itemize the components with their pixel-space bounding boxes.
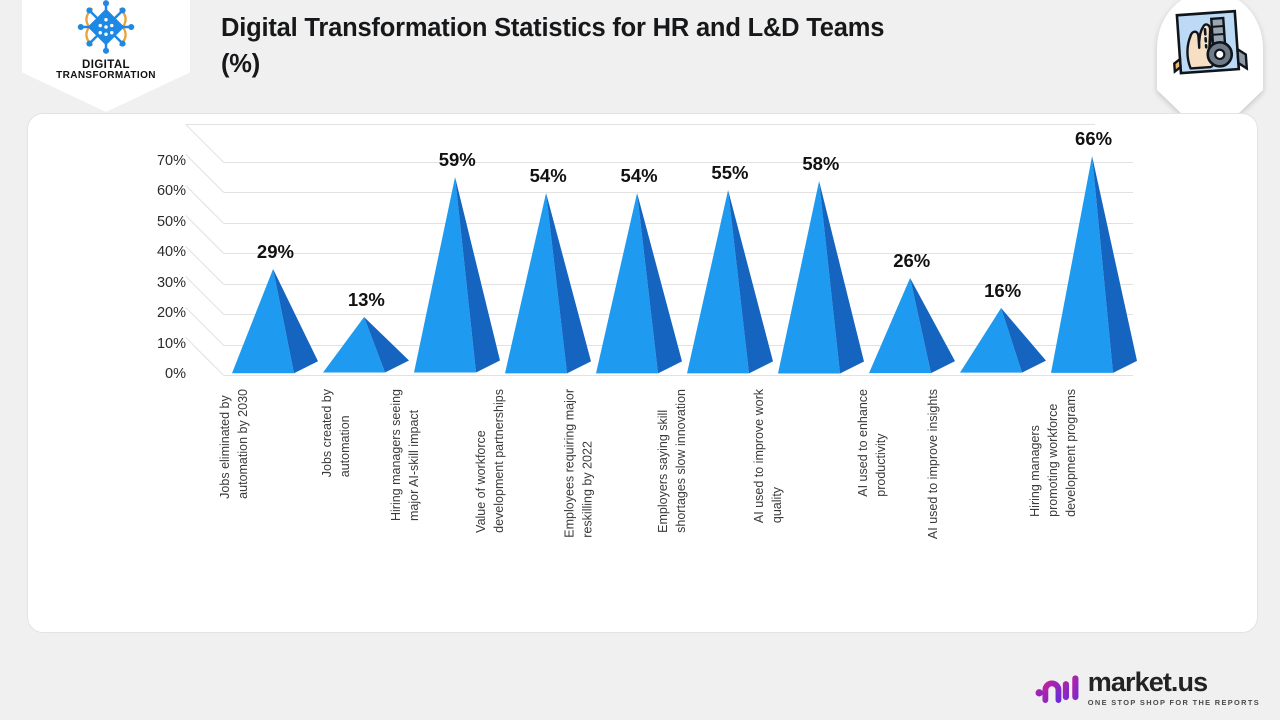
pyramid-bar <box>414 177 500 375</box>
market-us-bars-icon <box>1035 671 1079 703</box>
bar-value-label: 66% <box>1075 128 1112 150</box>
bar-value-label: 13% <box>348 289 385 311</box>
bar-column[interactable]: 26%AI used to enhanceproductivity <box>869 114 955 375</box>
bar-column[interactable]: 54%Value of workforcedevelopment partner… <box>505 114 591 375</box>
x-axis-category-label: AI used to enhanceproductivity <box>854 389 890 497</box>
bar-value-label: 55% <box>711 162 748 184</box>
x-axis-category-label: Employees requiring majorreskilling by 2… <box>561 389 597 538</box>
pyramid-bar <box>687 190 773 375</box>
chart-card: 70%60%50%40%30%20%10%0% 29%Jobs eliminat… <box>27 113 1258 633</box>
x-axis-category-label: Employers saying skillshortages slow inn… <box>654 389 690 533</box>
pyramid-bar <box>869 278 955 375</box>
pyramid-bar <box>596 193 682 375</box>
bar-column[interactable]: 58%AI used to improve workquality <box>778 114 864 375</box>
x-axis-category-label: Jobs created byautomation <box>318 389 354 477</box>
brand-tagline: ONE STOP SHOP FOR THE REPORTS <box>1088 699 1260 706</box>
x-axis-category-label: Hiring managers seeingmajor AI-skill imp… <box>387 389 423 521</box>
bar-value-label: 29% <box>257 241 294 263</box>
pyramid-bar <box>1051 156 1137 375</box>
bar-column[interactable]: 13%Jobs created byautomation <box>323 114 409 375</box>
pyramid-bar <box>323 317 409 375</box>
page-title: Digital Transformation Statistics for HR… <box>221 10 921 82</box>
circuit-chip-diamond-icon <box>67 0 145 58</box>
bar-column[interactable]: 54%Employees requiring majorreskilling b… <box>596 114 682 375</box>
bar-chart-plot: 70%60%50%40%30%20%10%0% 29%Jobs eliminat… <box>28 114 1257 632</box>
digital-transformation-logo-badge: DIGITAL TRANSFORMATION <box>22 0 190 112</box>
bar-column[interactable]: 55%Employers saying skillshortages slow … <box>687 114 773 375</box>
market-us-brand: market.us ONE STOP SHOP FOR THE REPORTS <box>1035 669 1260 706</box>
x-axis-category-label: AI used to improve workquality <box>750 389 786 523</box>
bar-value-label: 59% <box>439 149 476 171</box>
bar-column[interactable]: 59%Hiring managers seeingmajor AI-skill … <box>414 114 500 375</box>
bar-value-label: 26% <box>893 250 930 272</box>
bar-column[interactable]: 66%Hiring managerspromoting workforcedev… <box>1051 114 1137 375</box>
bar-value-label: 58% <box>802 153 839 175</box>
x-axis-category-label: Value of workforcedevelopment partnershi… <box>472 389 508 533</box>
x-axis-category-label: Jobs eliminated byautomation by 2030 <box>217 389 253 499</box>
bar-value-label: 54% <box>621 165 658 187</box>
bar-value-label: 54% <box>530 165 567 187</box>
pyramid-bar <box>505 193 591 375</box>
pyramid-bar <box>960 308 1046 375</box>
bar-value-label: 16% <box>984 280 1021 302</box>
bar-column[interactable]: 16%AI used to improve insights <box>960 114 1046 375</box>
bar-series: 29%Jobs eliminated byautomation by 20301… <box>28 114 1257 632</box>
logo-text-line-2: TRANSFORMATION <box>56 71 156 82</box>
bar-column[interactable]: 29%Jobs eliminated byautomation by 2030 <box>232 114 318 375</box>
x-axis-category-label: Hiring managerspromoting workforcedevelo… <box>1026 389 1080 517</box>
brand-name: market.us <box>1088 669 1260 696</box>
x-axis-category-label: AI used to improve insights <box>924 389 942 539</box>
pyramid-bar <box>778 181 864 375</box>
pyramid-bar <box>232 269 318 375</box>
